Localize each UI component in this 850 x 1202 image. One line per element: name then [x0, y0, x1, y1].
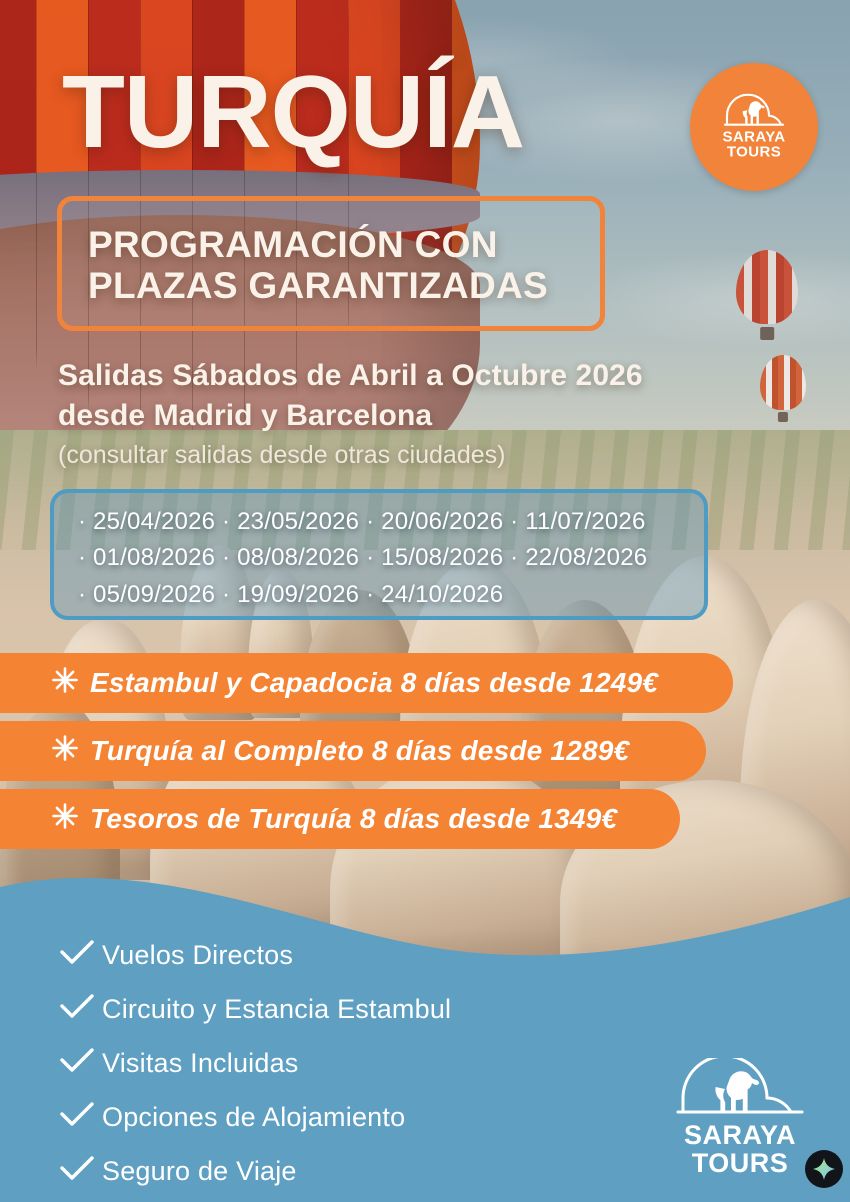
logo-line-2: TOURS: [660, 1150, 820, 1178]
star-burst-icon: [52, 667, 78, 700]
check-icon: [60, 1048, 102, 1079]
list-item: Opciones de Alojamiento: [60, 1096, 620, 1139]
check-icon: [60, 1156, 102, 1187]
offer-bar[interactable]: Turquía al Completo 8 días desde 1289€: [0, 721, 706, 781]
check-icon: [60, 940, 102, 971]
promo-line-1: PROGRAMACIÓN CON: [62, 201, 600, 265]
feature-label: Opciones de Alojamiento: [102, 1102, 405, 1133]
departures-block: Salidas Sábados de Abril a Octubre 2026 …: [58, 356, 818, 471]
stamp-brand-line1: SARAYA: [690, 130, 818, 145]
feature-label: Seguro de Viaje: [102, 1156, 297, 1187]
offer-bar[interactable]: Tesoros de Turquía 8 días desde 1349€: [0, 789, 680, 849]
cupos-ring-label: · CUPOS · CUPOS · CUPOS · CUPOS ·: [690, 63, 818, 66]
camel-arch-icon: [675, 1058, 805, 1118]
page-title: TURQUÍA: [62, 60, 524, 163]
watermark-badge: [805, 1150, 843, 1188]
dates-row: · 01/08/2026 · 08/08/2026 · 15/08/2026 ·…: [78, 540, 704, 576]
list-item: Vuelos Directos: [60, 934, 620, 977]
logo-line-1: SARAYA: [660, 1122, 820, 1150]
check-icon: [60, 994, 102, 1025]
star-burst-icon: [52, 735, 78, 768]
offer-label: Tesoros de Turquía 8 días desde 1349€: [90, 803, 617, 835]
cupos-stamp-badge: · CUPOS · CUPOS · CUPOS · CUPOS · SARAYA…: [690, 63, 818, 191]
guaranteed-seats-box: PROGRAMACIÓN CON PLAZAS GARANTIZADAS: [57, 196, 605, 331]
feature-label: Vuelos Directos: [102, 940, 293, 971]
stamp-brand-line2: TOURS: [690, 145, 818, 160]
feature-label: Visitas Incluidas: [102, 1048, 299, 1079]
offer-label: Estambul y Capadocia 8 días desde 1249€: [90, 667, 658, 699]
departures-line-1: Salidas Sábados de Abril a Octubre 2026: [58, 356, 818, 396]
feature-label: Circuito y Estancia Estambul: [102, 994, 451, 1025]
promo-line-2: PLAZAS GARANTIZADAS: [62, 265, 600, 306]
departure-dates-box: · 25/04/2026 · 23/05/2026 · 20/06/2026 ·…: [50, 489, 708, 620]
dates-row: · 05/09/2026 · 19/09/2026 · 24/10/2026: [78, 577, 704, 613]
promo-poster: TURQUÍA · CUPOS · CUPOS · CUPOS · CUPOS …: [0, 0, 850, 1202]
features-list: Vuelos Directos Circuito y Estancia Esta…: [60, 934, 620, 1202]
list-item: Seguro de Viaje: [60, 1150, 620, 1193]
dates-row: · 25/04/2026 · 23/05/2026 · 20/06/2026 ·…: [78, 504, 704, 540]
four-point-star-icon: [812, 1157, 836, 1181]
offer-bar[interactable]: Estambul y Capadocia 8 días desde 1249€: [0, 653, 733, 713]
stamp-core: SARAYA TOURS: [690, 94, 818, 161]
star-burst-icon: [52, 803, 78, 836]
camel-arch-icon: [723, 94, 785, 128]
offer-label: Turquía al Completo 8 días desde 1289€: [90, 735, 629, 767]
check-icon: [60, 1102, 102, 1133]
departures-note: (consultar salidas desde otras ciudades): [58, 439, 818, 472]
saraya-tours-logo: SARAYA TOURS: [660, 1058, 820, 1177]
list-item: Circuito y Estancia Estambul: [60, 988, 620, 1031]
departures-line-2: desde Madrid y Barcelona: [58, 396, 818, 436]
list-item: Visitas Incluidas: [60, 1042, 620, 1085]
